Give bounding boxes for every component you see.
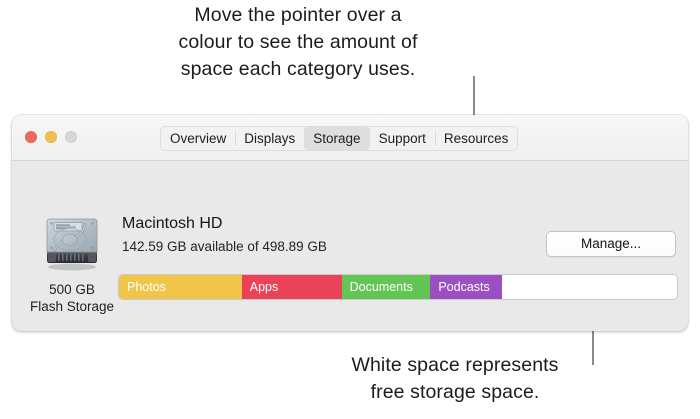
tab-overview[interactable]: Overview <box>161 127 235 150</box>
tab-displays[interactable]: Displays <box>235 127 304 150</box>
tab-support[interactable]: Support <box>370 127 435 150</box>
storage-pane: 500 GB Flash Storage Macintosh HD 142.59… <box>12 161 688 331</box>
storage-segment-documents[interactable]: Documents <box>342 275 431 299</box>
tab-resources[interactable]: Resources <box>435 127 518 150</box>
storage-segment-podcasts[interactable]: Podcasts <box>430 275 502 299</box>
tab-segmented-control: Overview Displays Storage Support Resour… <box>160 126 518 151</box>
storage-segment-apps[interactable]: Apps <box>242 275 342 299</box>
about-this-mac-window: Overview Displays Storage Support Resour… <box>12 115 688 331</box>
minimize-button[interactable] <box>45 131 57 143</box>
drive-capacity-label: 500 GB Flash Storage <box>28 281 116 315</box>
manage-button[interactable]: Manage... <box>546 231 676 257</box>
storage-usage-bar: Photos Apps Documents Podcasts <box>118 274 678 300</box>
window-controls <box>25 131 77 143</box>
tab-storage[interactable]: Storage <box>304 127 369 150</box>
storage-segment-photos[interactable]: Photos <box>119 275 242 299</box>
storage-segment-free[interactable] <box>502 275 677 299</box>
volume-name-label: Macintosh HD <box>122 215 222 233</box>
annotation-bottom-text: White space represents free storage spac… <box>290 352 620 406</box>
zoom-button[interactable] <box>65 131 77 143</box>
annotation-top-text: Move the pointer over a colour to see th… <box>118 2 478 83</box>
window-titlebar: Overview Displays Storage Support Resour… <box>12 115 688 161</box>
hard-drive-icon <box>40 210 104 274</box>
close-button[interactable] <box>25 131 37 143</box>
volume-available-label: 142.59 GB available of 498.89 GB <box>122 239 327 254</box>
drive-summary: 500 GB Flash Storage <box>28 210 116 315</box>
